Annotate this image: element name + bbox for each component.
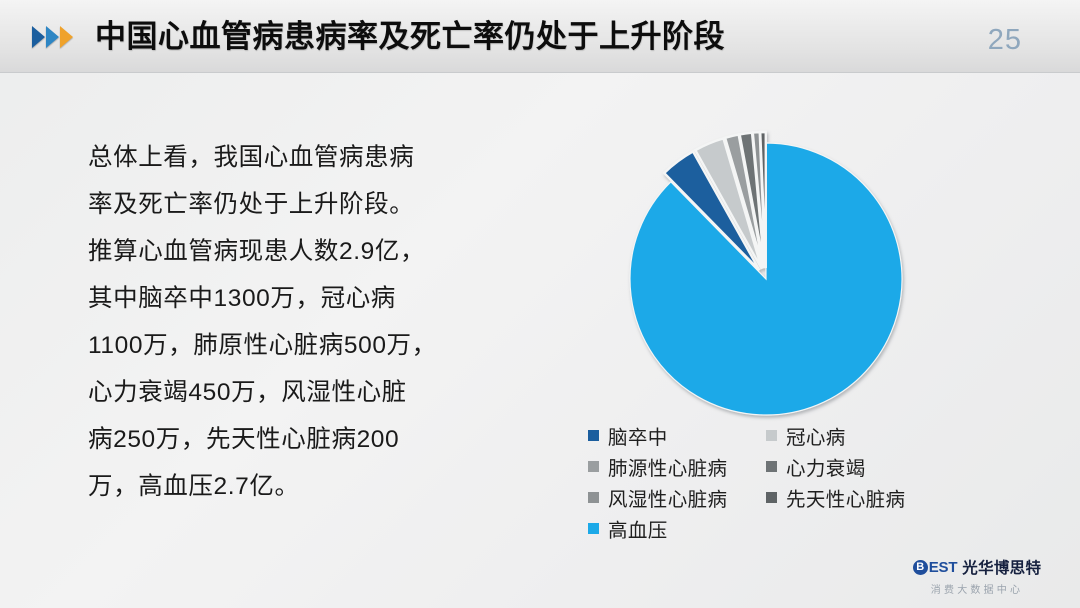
slide-header: 中国心血管病患病率及死亡率仍处于上升阶段 25 [0, 0, 1080, 73]
legend-item-xiantianxing[interactable]: 先天性心脏病 [766, 483, 956, 512]
legend-swatch [766, 492, 777, 503]
body-line: 万，高血压2.7亿。 [88, 463, 488, 510]
legend-swatch [588, 523, 599, 534]
body-line: 率及死亡率仍处于上升阶段。 [88, 181, 488, 228]
legend-label: 冠心病 [786, 421, 846, 450]
chevron-right-icon-3 [60, 26, 73, 48]
logo-b-mark: B [913, 560, 928, 575]
page-number: 25 [988, 24, 1022, 57]
chevron-right-icon-2 [46, 26, 59, 48]
body-line: 推算心血管病现患人数2.9亿， [88, 228, 488, 275]
body-line: 总体上看，我国心血管病患病 [88, 134, 488, 181]
body-line: 病250万，先天性心脏病200 [88, 416, 488, 463]
legend-swatch [588, 461, 599, 472]
footer-logo: B EST 光华博思特 消费大数据中心 [892, 556, 1062, 596]
legend-item-gaoxueya[interactable]: 高血压 [588, 514, 766, 543]
logo-tagline: 消费大数据中心 [892, 581, 1062, 596]
page-title: 中国心血管病患病率及死亡率仍处于上升阶段 [95, 18, 725, 56]
legend-swatch [588, 492, 599, 503]
legend-swatch [766, 430, 777, 441]
chevron-group-icon [32, 26, 73, 48]
best-logo-icon: B EST [913, 559, 958, 576]
body-line: 心力衰竭450万，风湿性心脏 [88, 369, 488, 416]
legend-label: 先天性心脏病 [786, 483, 905, 512]
legend-item-guanxinbing[interactable]: 冠心病 [766, 421, 956, 450]
legend-item-naocuzhong[interactable]: 脑卒中 [588, 421, 766, 450]
body-line: 其中脑卒中1300万，冠心病 [88, 275, 488, 322]
logo-company-name: 光华博思特 [962, 556, 1041, 578]
chart-legend: 脑卒中 冠心病 肺源性心脏病 心力衰竭 风湿性心脏病 先天性心脏病 高血压 [588, 420, 968, 544]
legend-label: 脑卒中 [608, 421, 668, 450]
body-line: 1100万，肺原性心脏病500万， [88, 322, 488, 369]
legend-item-xinlishuaijie[interactable]: 心力衰竭 [766, 452, 956, 481]
legend-item-fengshixing[interactable]: 风湿性心脏病 [588, 483, 766, 512]
chevron-right-icon-1 [32, 26, 45, 48]
legend-label: 心力衰竭 [786, 452, 866, 481]
body-paragraph: 总体上看，我国心血管病患病 率及死亡率仍处于上升阶段。 推算心血管病现患人数2.… [88, 134, 488, 510]
legend-item-feiyuanxing[interactable]: 肺源性心脏病 [588, 452, 766, 481]
legend-swatch [766, 461, 777, 472]
legend-swatch [588, 430, 599, 441]
legend-label: 风湿性心脏病 [608, 483, 727, 512]
legend-label: 肺源性心脏病 [608, 452, 727, 481]
pie-chart-svg [575, 120, 975, 440]
legend-label: 高血压 [608, 514, 668, 543]
logo-est-text: EST [929, 559, 958, 576]
pie-chart [575, 120, 975, 440]
logo-row: B EST 光华博思特 [892, 556, 1062, 578]
